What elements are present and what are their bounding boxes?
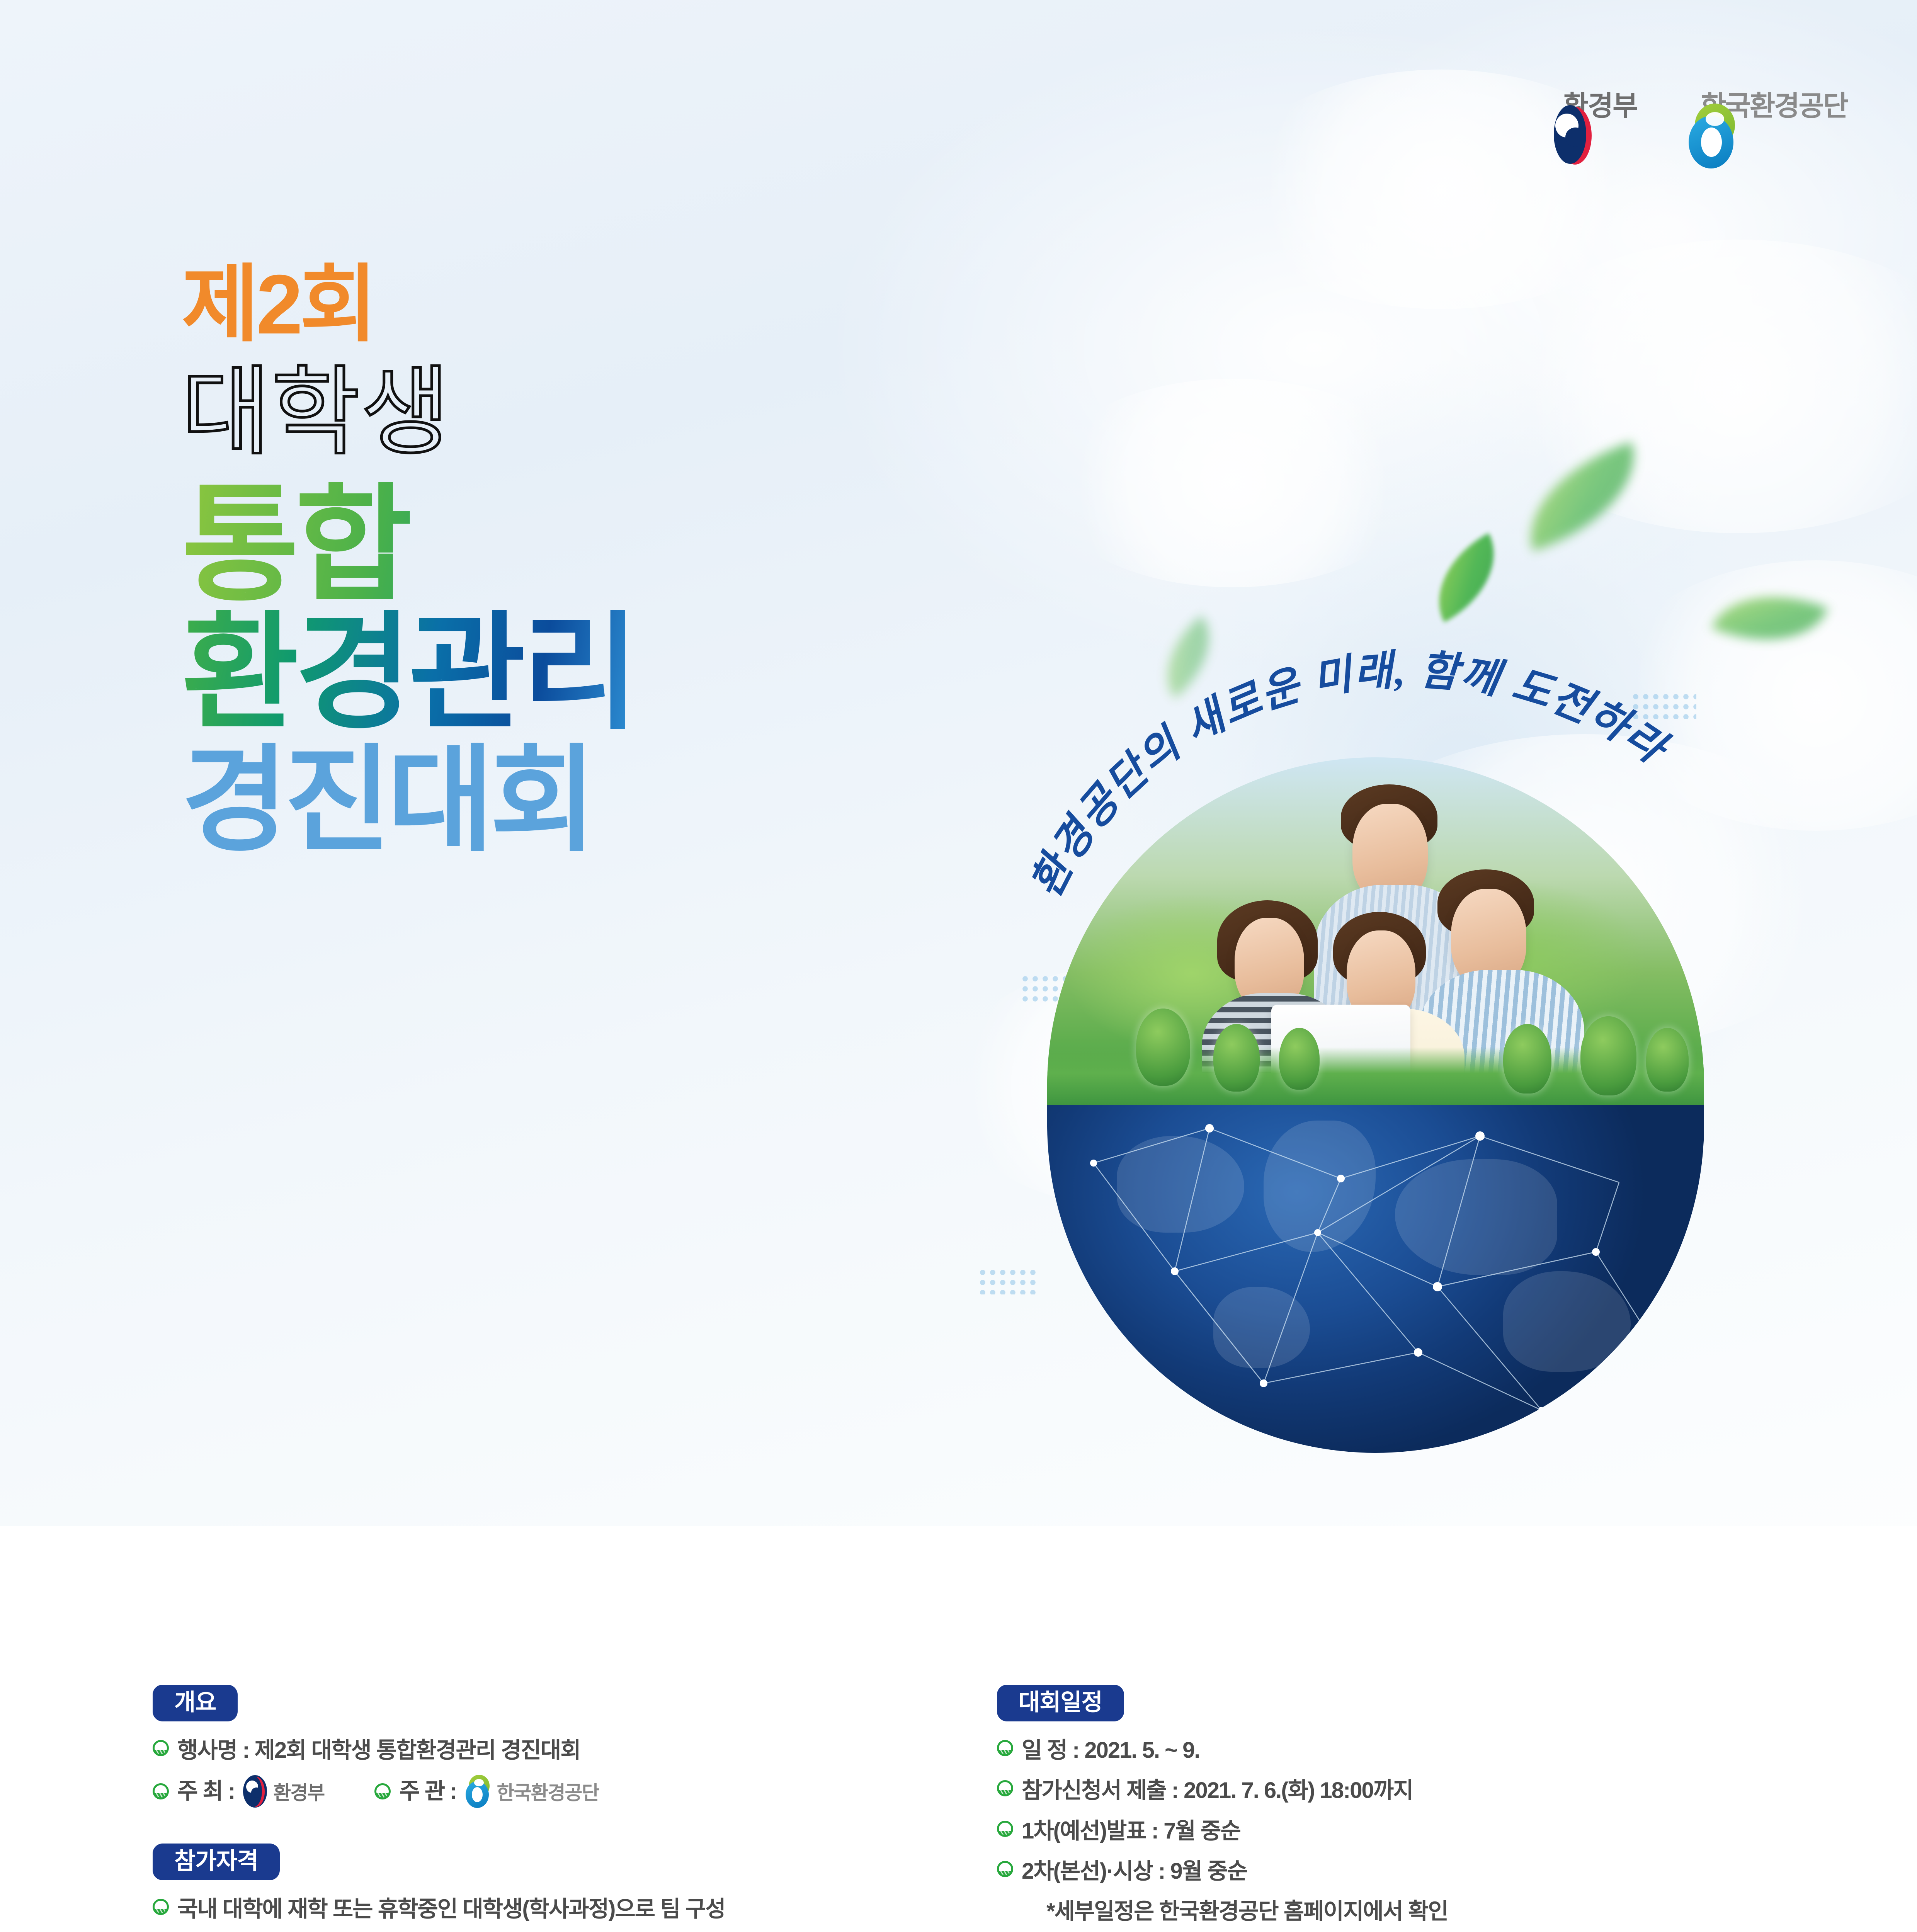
globe-bottom-sphere	[1047, 1105, 1704, 1453]
schedule-footnote: *세부일정은 한국환경공단 홈페이지에서 확인	[1046, 1896, 1839, 1927]
bullet-circle-icon	[153, 1783, 169, 1799]
keco-emblem-icon	[465, 1775, 491, 1808]
logo-keco: 한국환경공단	[1688, 83, 1847, 124]
bullet-circle-icon	[997, 1780, 1013, 1796]
overview-event-row: 행사명 : 제2회 대학생 통합환경관리 경진대회	[153, 1735, 945, 1766]
schedule-item-2: 참가신청서 제출 : 2021. 7. 6.(화) 18:00까지	[1022, 1775, 1413, 1806]
badge-eligibility: 참가자격	[153, 1844, 280, 1880]
overview-event-name: 행사명 : 제2회 대학생 통합환경관리 경진대회	[177, 1735, 580, 1766]
schedule-item-4: 2차(본선)·시상 : 9월 중순	[1022, 1855, 1247, 1887]
title-tonghap: 통합	[182, 482, 635, 607]
overview-organizer-org-name: 한국환경공단	[497, 1777, 599, 1805]
eligibility-line-1: 국내 대학에 재학 또는 휴학중인 대학생(학사과정)으로 팀 구성	[177, 1893, 725, 1925]
info-column-right: 대회일정 일 정 : 2021. 5. ~ 9. 참가신청서 제출 : 2021…	[997, 1685, 1839, 1932]
tree-icon	[1580, 1016, 1636, 1095]
schedule-row: 일 정 : 2021. 5. ~ 9.	[997, 1735, 1839, 1766]
tree-icon	[1136, 1009, 1190, 1086]
badge-schedule: 대회일정	[997, 1685, 1124, 1721]
schedule-item-1: 일 정 : 2021. 5. ~ 9.	[1022, 1735, 1199, 1766]
logo-moe: 환경부	[1550, 83, 1638, 124]
section-schedule: 대회일정 일 정 : 2021. 5. ~ 9. 참가신청서 제출 : 2021…	[997, 1685, 1839, 1928]
schedule-item-3: 1차(예선)발표 : 7월 중순	[1022, 1815, 1240, 1847]
poster-title: 제2회 대학생 통합 환경관리 경진대회	[182, 263, 635, 858]
info-column-left: 개요 행사명 : 제2회 대학생 통합환경관리 경진대회 주 최 : 환경부 주…	[153, 1685, 945, 1932]
title-gyeongjin-daehoe: 경진대회	[182, 742, 635, 858]
bullet-circle-icon	[153, 1740, 169, 1756]
overview-host-org: 환경부	[243, 1775, 324, 1808]
network-lines	[1047, 1105, 1704, 1453]
bullet-circle-icon	[997, 1861, 1013, 1877]
section-eligibility: 참가자격 국내 대학에 재학 또는 휴학중인 대학생(학사과정)으로 팀 구성 …	[153, 1844, 945, 1932]
overview-organizer-org: 한국환경공단	[465, 1775, 599, 1808]
bullet-circle-icon	[374, 1783, 391, 1799]
bullet-circle-icon	[997, 1821, 1013, 1837]
title-ordinal: 제2회	[182, 263, 635, 347]
bullet-circle-icon	[997, 1740, 1013, 1756]
badge-overview: 개요	[153, 1685, 238, 1721]
schedule-row: 참가신청서 제출 : 2021. 7. 6.(화) 18:00까지	[997, 1775, 1839, 1806]
tagline-curved: 환경공단의 새로운 미래, 함께 도전하라	[997, 572, 1808, 958]
overview-host-row: 주 최 : 환경부 주 관 : 한국환경공단	[153, 1775, 945, 1808]
schedule-row: 2차(본선)·시상 : 9월 중순	[997, 1855, 1839, 1887]
moe-emblem-icon	[243, 1775, 267, 1808]
title-hwangyeong-gwanri: 환경관리	[182, 610, 635, 735]
header-logos: 환경부 한국환경공단	[1550, 83, 1847, 124]
schedule-row: 1차(예선)발표 : 7월 중순	[997, 1815, 1839, 1847]
tagline-text: 환경공단의 새로운 미래, 함께 도전하라	[1023, 648, 1677, 905]
tree-icon	[1213, 1024, 1260, 1092]
section-overview: 개요 행사명 : 제2회 대학생 통합환경관리 경진대회 주 최 : 환경부 주…	[153, 1685, 945, 1808]
overview-host-label: 주 최 :	[177, 1776, 235, 1807]
eligibility-row: 국내 대학에 재학 또는 휴학중인 대학생(학사과정)으로 팀 구성	[153, 1893, 945, 1925]
tree-icon	[1646, 1028, 1689, 1092]
tree-icon	[1503, 1024, 1551, 1094]
title-student: 대학생	[182, 360, 635, 464]
tree-icon	[1279, 1028, 1320, 1090]
bullet-circle-icon	[153, 1899, 169, 1915]
overview-host-org-name: 환경부	[273, 1777, 324, 1805]
overview-organizer-label: 주 관 :	[399, 1776, 456, 1807]
